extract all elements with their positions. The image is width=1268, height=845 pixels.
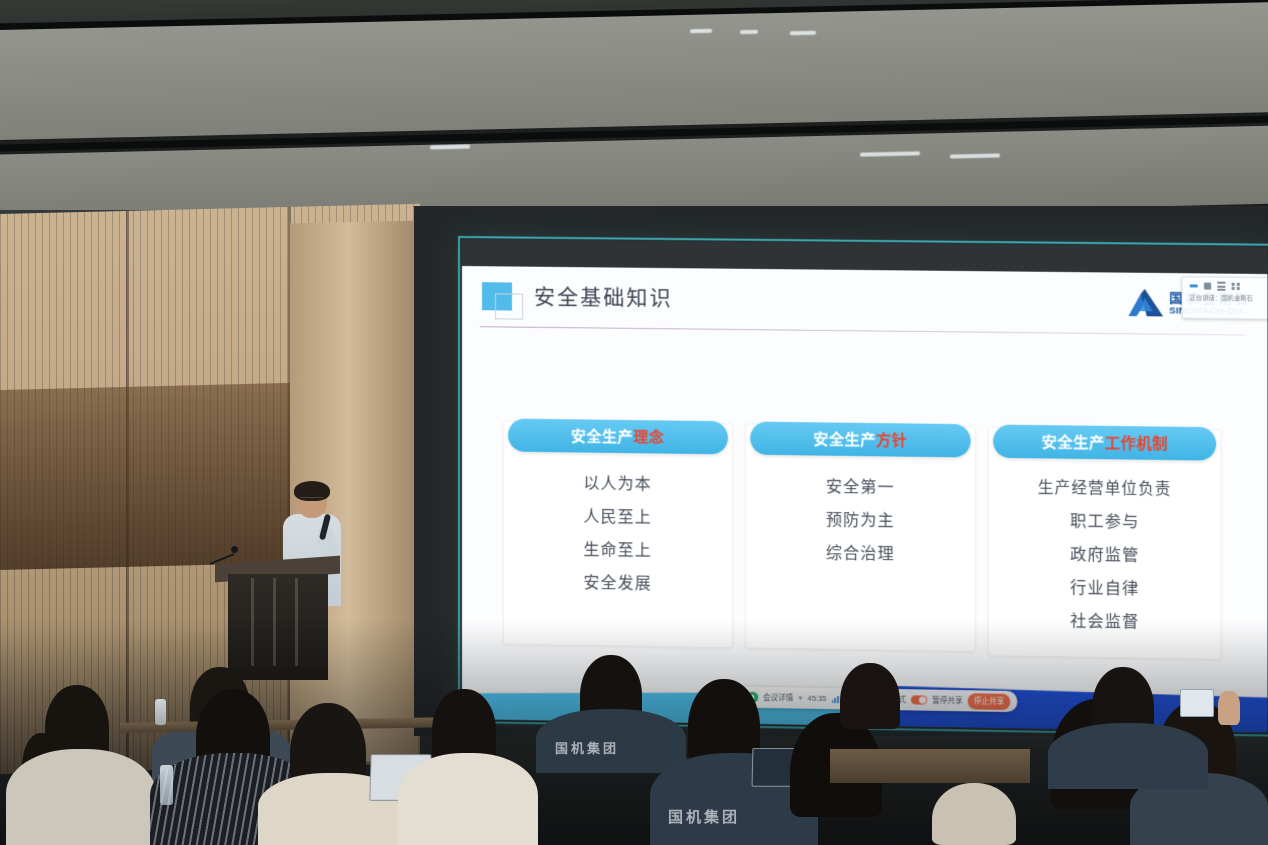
list-item: 综合治理 xyxy=(750,538,971,565)
water-bottle xyxy=(155,699,166,725)
header-highlight: 工作机制 xyxy=(1105,435,1168,453)
audience-shoulder xyxy=(398,753,538,845)
list-item: 人民至上 xyxy=(508,502,728,529)
ceiling-light xyxy=(740,30,758,34)
column-header-policy: 安全生产方针 xyxy=(750,422,971,458)
audience: 国机集团 国机集团 xyxy=(0,620,1268,845)
list-view-icon[interactable] xyxy=(1217,282,1225,291)
audience-desk xyxy=(830,749,1030,783)
conference-room: 安全基础知识 国机金刚石 SINOMACH-DIA xyxy=(0,0,1268,845)
ceiling xyxy=(0,0,1268,232)
column-card-concept: 以人为本 人民至上 生命至上 安全发展 xyxy=(503,421,733,649)
audience-head xyxy=(932,783,1016,845)
presenter-glasses xyxy=(300,497,324,503)
title-square-outline-icon xyxy=(495,293,523,319)
column-card-policy: 安全第一 预防为主 综合治理 xyxy=(745,423,976,652)
grid-view-icon[interactable] xyxy=(1232,283,1240,291)
slide-header: 安全基础知识 国机金刚石 SINOMACH-DIA xyxy=(462,266,1267,337)
active-speaker-status: 正在讲话：国机金刚石 xyxy=(1187,292,1268,302)
slide-title: 安全基础知识 xyxy=(534,281,673,313)
list-item: 生命至上 xyxy=(508,535,728,562)
podium-microphone xyxy=(209,542,239,564)
header-highlight: 理念 xyxy=(633,429,664,446)
vest-text: 国机集团 xyxy=(668,806,740,827)
list-item: 生产经营单位负责 xyxy=(993,475,1216,500)
screenshot-stage: 安全基础知识 国机金刚石 SINOMACH-DIA xyxy=(0,0,1268,845)
active-speaker-panel[interactable]: 正在讲话：国机金刚石 xyxy=(1182,276,1268,320)
column-concept: 安全生产理念 以人为本 人民至上 生命至上 安全发展 xyxy=(508,419,728,653)
ceiling-light xyxy=(690,29,712,33)
sinomach-dia-mark-icon xyxy=(1128,289,1163,318)
minimize-icon[interactable] xyxy=(1190,284,1198,287)
column-header-mechanism: 安全生产工作机制 xyxy=(993,425,1216,461)
header-highlight: 方针 xyxy=(876,432,907,450)
raised-hand xyxy=(1218,691,1240,725)
speaker-panel-icons[interactable] xyxy=(1187,280,1268,293)
column-header-concept: 安全生产理念 xyxy=(508,419,728,455)
vest-text: 国机集团 xyxy=(555,738,619,757)
header-plain: 安全生产 xyxy=(813,431,876,449)
single-view-icon[interactable] xyxy=(1204,283,1211,290)
audience-shoulder xyxy=(1048,723,1208,789)
list-item: 预防为主 xyxy=(750,505,971,532)
header-divider xyxy=(480,326,1245,335)
list-item: 行业自律 xyxy=(993,573,1216,600)
list-item: 安全发展 xyxy=(508,568,728,595)
audience-shoulder xyxy=(6,749,156,845)
mobile-phone xyxy=(1180,689,1214,717)
list-item: 安全第一 xyxy=(750,472,971,499)
list-item: 职工参与 xyxy=(993,506,1216,533)
audience-head xyxy=(432,689,496,761)
header-plain: 安全生产 xyxy=(1042,434,1105,452)
audience-head xyxy=(840,663,900,729)
ceiling-light xyxy=(790,31,816,36)
list-item: 政府监管 xyxy=(993,539,1216,566)
water-bottle xyxy=(160,765,173,805)
list-item: 以人为本 xyxy=(508,469,728,496)
header-plain: 安全生产 xyxy=(571,428,633,446)
